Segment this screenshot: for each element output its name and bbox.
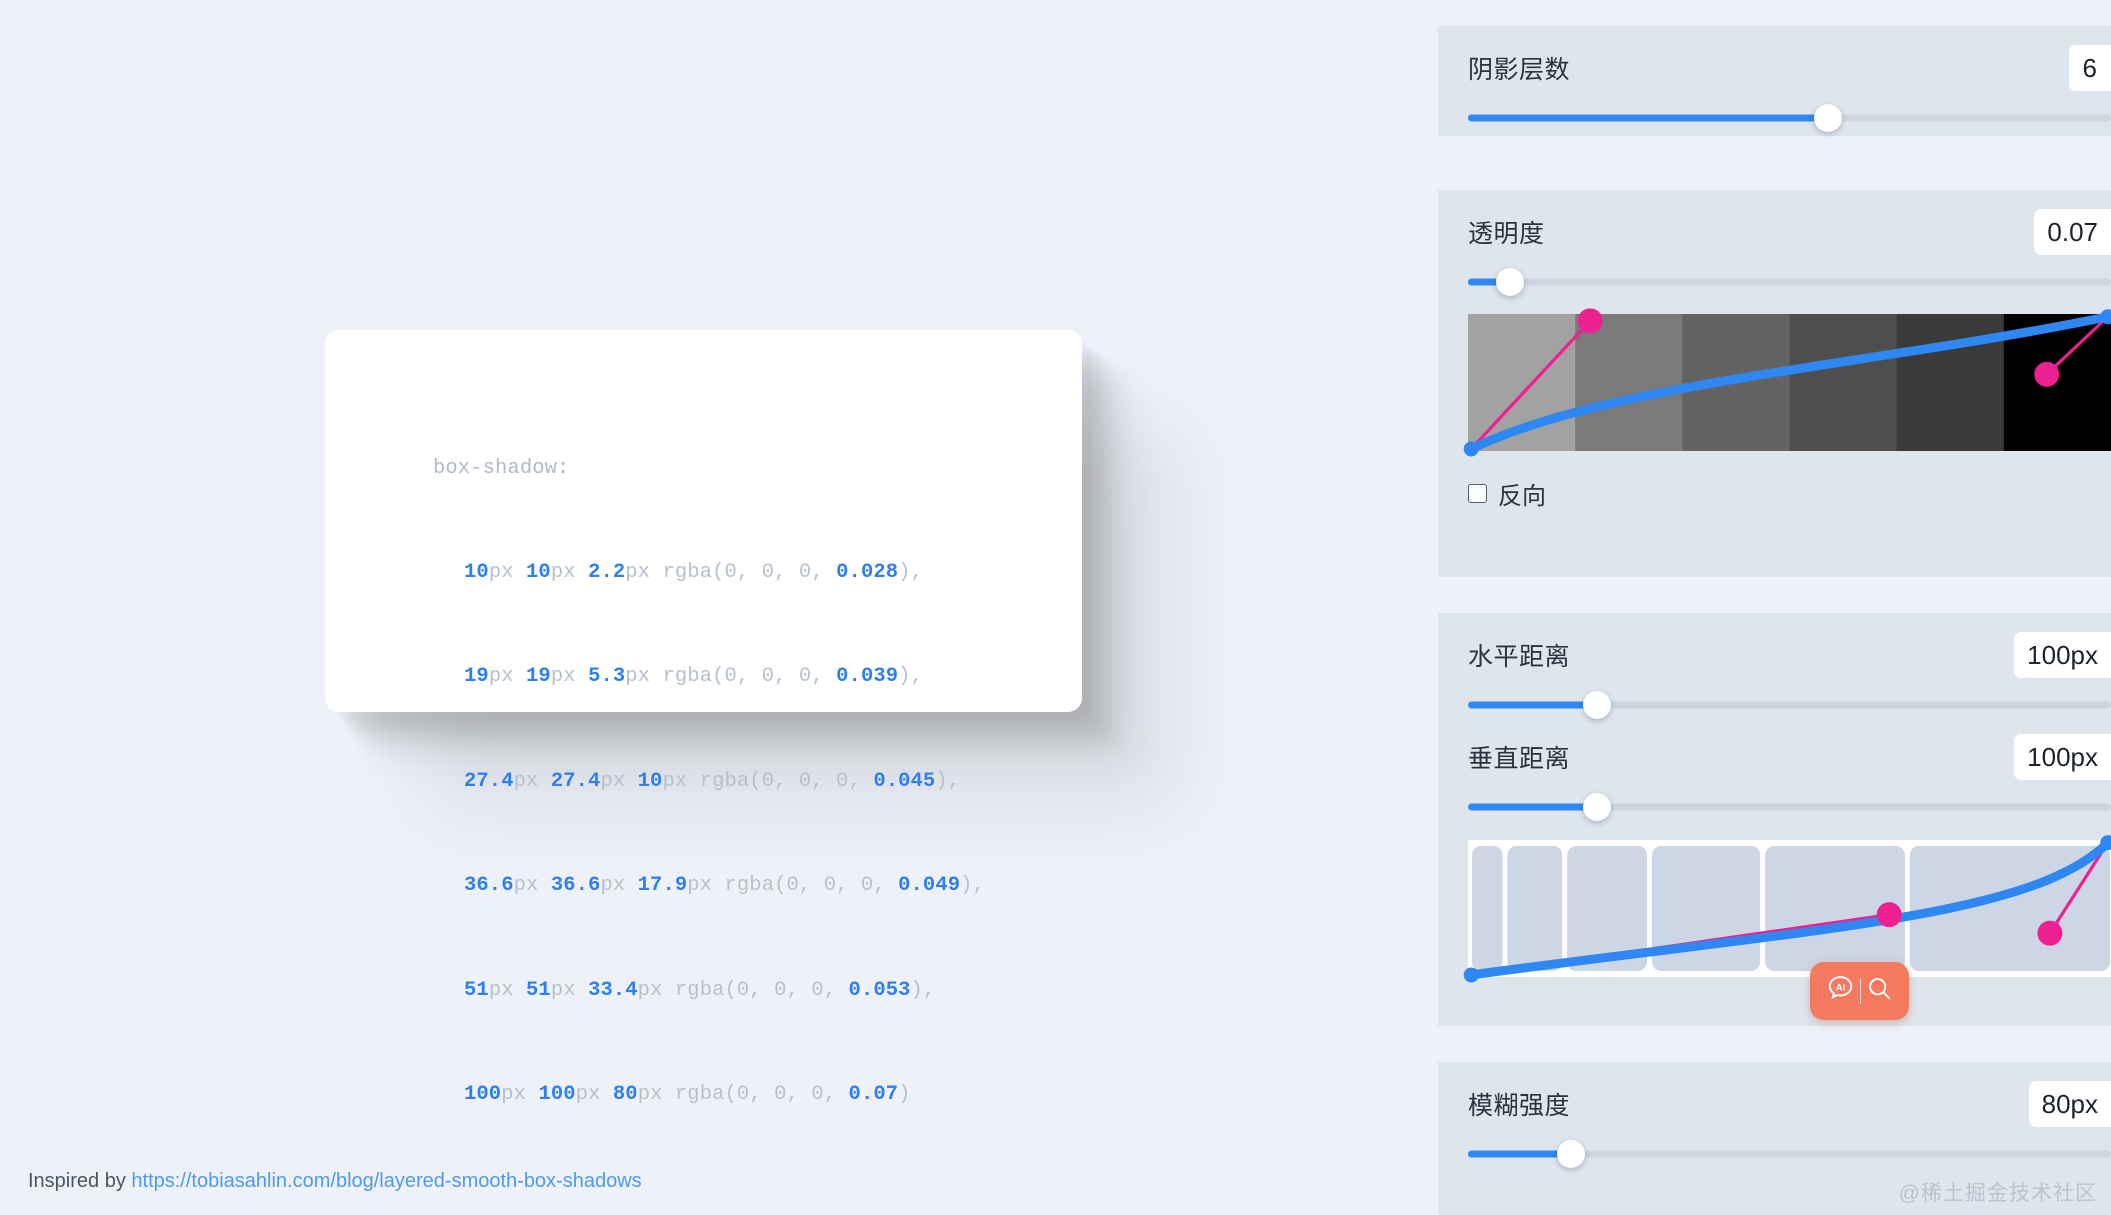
label-offset-x: 水平距离 [1468, 637, 1570, 673]
label-reverse: 反向 [1498, 476, 1546, 511]
slider-offset-y[interactable] [1468, 792, 2081, 822]
slider-offset-x[interactable] [1468, 690, 2081, 720]
code-layer-row: 36.6px 36.6px 17.9px rgba(0, 0, 0, 0.049… [433, 869, 985, 904]
distance-curve-editor[interactable] [1468, 840, 2111, 977]
card-opacity: 透明度 0.07 反向 [1438, 190, 2111, 577]
slider-blur[interactable] [1468, 1139, 2081, 1169]
code-layer-row: 19px 19px 5.3px rgba(0, 0, 0, 0.039), [433, 660, 985, 695]
label-offset-y: 垂直距离 [1468, 739, 1570, 775]
ai-search-overlay[interactable]: AI [1810, 962, 1909, 1020]
value-opacity[interactable]: 0.07 [2034, 209, 2111, 255]
curve-control-point[interactable] [2037, 921, 2062, 946]
row-offset-y: 垂直距离 100px [1468, 728, 2081, 786]
value-offset-x[interactable]: 100px [2014, 632, 2111, 678]
shadow-preview-card: box-shadow: 10px 10px 2.2px rgba(0, 0, 0… [325, 330, 1082, 712]
value-offset-y[interactable]: 100px [2014, 734, 2111, 780]
slider-thumb[interactable] [1814, 104, 1842, 132]
distance-curve-svg[interactable] [1468, 840, 2111, 977]
row-offset-x: 水平距离 100px [1468, 626, 2081, 684]
row-opacity: 透明度 0.07 [1468, 203, 2081, 261]
slider-thumb[interactable] [1583, 793, 1611, 821]
code-layer-row: 10px 10px 2.2px rgba(0, 0, 0, 0.028), [433, 556, 985, 591]
site-watermark: @稀土掘金技术社区 [1899, 1177, 2097, 1207]
reverse-checkbox[interactable] [1468, 484, 1487, 503]
label-opacity: 透明度 [1468, 214, 1545, 250]
controls-panel: 阴影层数 6 透明度 0.07 反向 水平距离 10 [1438, 0, 2111, 1215]
slider-opacity[interactable] [1468, 267, 2081, 297]
divider [1860, 978, 1862, 1004]
curve-control-point[interactable] [1877, 902, 1902, 927]
value-blur[interactable]: 80px [2029, 1081, 2111, 1127]
alpha-curve-svg[interactable] [1468, 314, 2111, 451]
curve-anchor-point[interactable] [1464, 967, 1479, 982]
slider-shadow-layers[interactable] [1468, 103, 2081, 133]
code-property: box-shadow: [433, 452, 985, 487]
ai-bubble-icon[interactable]: AI [1825, 973, 1856, 1009]
svg-text:AI: AI [1835, 983, 1845, 994]
card-distance: 水平距离 100px 垂直距离 100px [1438, 613, 2111, 1026]
curve-control-point[interactable] [1578, 308, 1603, 333]
inspiration-link[interactable]: https://tobiasahlin.com/blog/layered-smo… [131, 1170, 641, 1192]
alpha-band [1790, 314, 1898, 451]
code-layer-row: 27.4px 27.4px 10px rgba(0, 0, 0, 0.045), [433, 765, 985, 800]
distance-band [1472, 846, 1502, 971]
slider-track[interactable] [1468, 279, 2111, 286]
slider-thumb[interactable] [1583, 691, 1611, 719]
row-blur: 模糊强度 80px [1468, 1075, 2081, 1133]
curve-control-point[interactable] [2034, 362, 2059, 387]
row-shadow-layers: 阴影层数 6 [1468, 39, 2081, 97]
row-reverse[interactable]: 反向 [1468, 471, 2081, 515]
slider-fill [1468, 115, 1828, 122]
code-layer-row: 100px 100px 80px rgba(0, 0, 0, 0.07) [433, 1078, 985, 1113]
slider-fill [1468, 1151, 1571, 1158]
slider-thumb[interactable] [1496, 268, 1524, 296]
alpha-band [1575, 314, 1683, 451]
slider-fill [1468, 702, 1597, 709]
alpha-curve-editor[interactable] [1468, 314, 2111, 451]
box-shadow-code: box-shadow: 10px 10px 2.2px rgba(0, 0, 0… [433, 382, 985, 1215]
footer-prefix: Inspired by [28, 1170, 131, 1192]
label-shadow-layers: 阴影层数 [1468, 50, 1570, 86]
slider-fill [1468, 804, 1597, 811]
footer-credit: Inspired by https://tobiasahlin.com/blog… [28, 1170, 642, 1193]
preview-stage: box-shadow: 10px 10px 2.2px rgba(0, 0, 0… [0, 0, 1438, 1215]
code-layer-row: 51px 51px 33.4px rgba(0, 0, 0, 0.053), [433, 974, 985, 1009]
search-icon[interactable] [1865, 974, 1894, 1008]
card-shadow-layers: 阴影层数 6 [1438, 26, 2111, 136]
distance-band [1507, 846, 1562, 971]
value-shadow-layers[interactable]: 6 [2069, 45, 2111, 91]
curve-anchor-point[interactable] [1464, 441, 1479, 456]
label-blur: 模糊强度 [1468, 1086, 1570, 1122]
slider-thumb[interactable] [1557, 1140, 1585, 1168]
